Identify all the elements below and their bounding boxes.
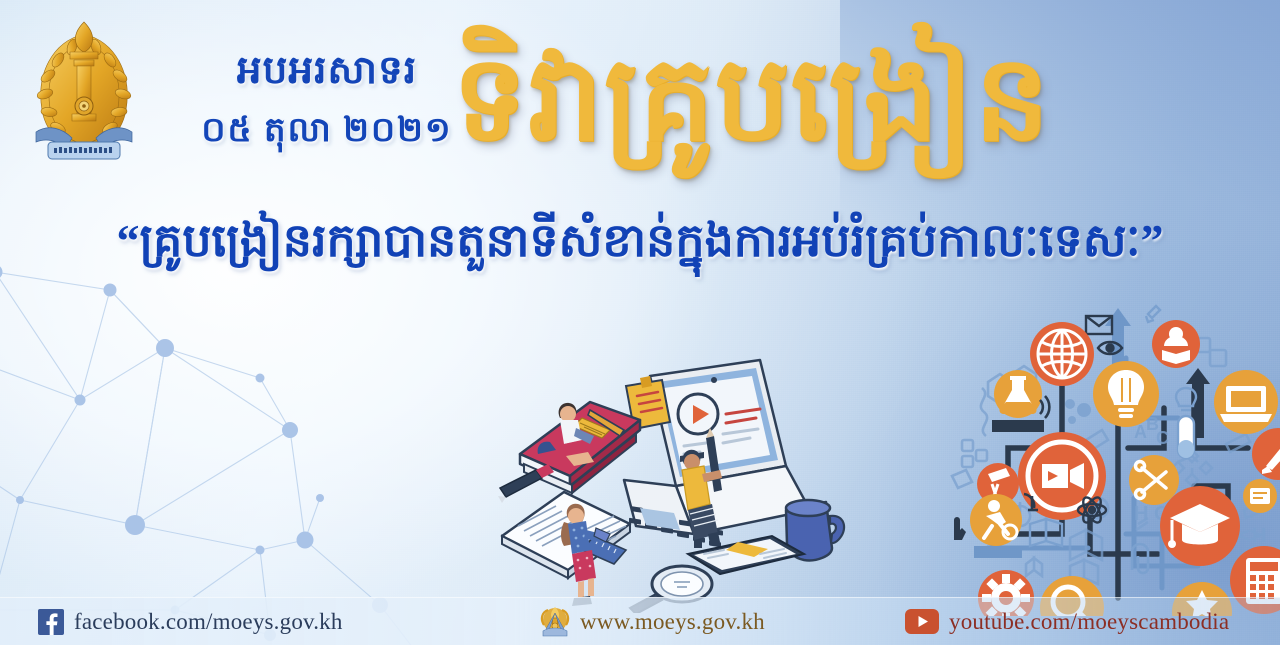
running-person-icon [970,494,1022,546]
reader-icon [1152,320,1200,368]
svg-text:C: C [1156,428,1169,448]
footer-youtube[interactable]: youtube.com/moeyscambodia [905,598,1229,645]
event-date: ០៥ តុលា ២០២១ [182,108,472,158]
brush-icon [1252,428,1280,480]
list-icon [1243,479,1277,513]
page-title: ទិវាគ្រូបង្រៀន [452,28,1172,172]
youtube-url[interactable]: youtube.com/moeyscambodia [949,609,1229,635]
youtube-icon[interactable] [905,609,939,634]
graduation-cap-icon [1160,486,1240,566]
ministry-emblem [28,16,140,164]
teachers-day-banner: អបអរសាទរ ០៥ តុលា ២០២១ ទិវាគ្រូបង្រៀន “គ្… [0,0,1280,645]
svg-text:<>: <> [1238,525,1261,547]
scissors-icon [1129,455,1179,505]
elearning-illustration [498,358,848,613]
website-url[interactable]: www.moeys.gov.kh [580,609,765,635]
facebook-icon[interactable] [38,609,64,635]
lightbulb-icon [1093,361,1159,427]
network-constellation-graphic [0,250,480,645]
laptop-icon [1214,370,1278,434]
pointer-icon [954,517,966,540]
footer-website[interactable]: www.moeys.gov.kh [540,598,765,645]
subtitle-quote: “គ្រូបង្រៀនរក្សាបានតួនាទីសំខាន់ក្នុងការអ… [0,212,1280,279]
flask-icon [994,370,1042,418]
celebration-heading: អបអរសាទរ [182,46,472,103]
globe-icon [1030,322,1094,386]
test-tube-icon [1178,416,1194,458]
pencil-icon [1146,306,1160,322]
moeys-emblem-icon [540,605,570,639]
education-icons-cluster: A B C H O H <> [948,298,1280,616]
footer-facebook[interactable]: facebook.com/moeys.gov.kh [38,598,343,645]
facebook-url[interactable]: facebook.com/moeys.gov.kh [74,609,343,635]
